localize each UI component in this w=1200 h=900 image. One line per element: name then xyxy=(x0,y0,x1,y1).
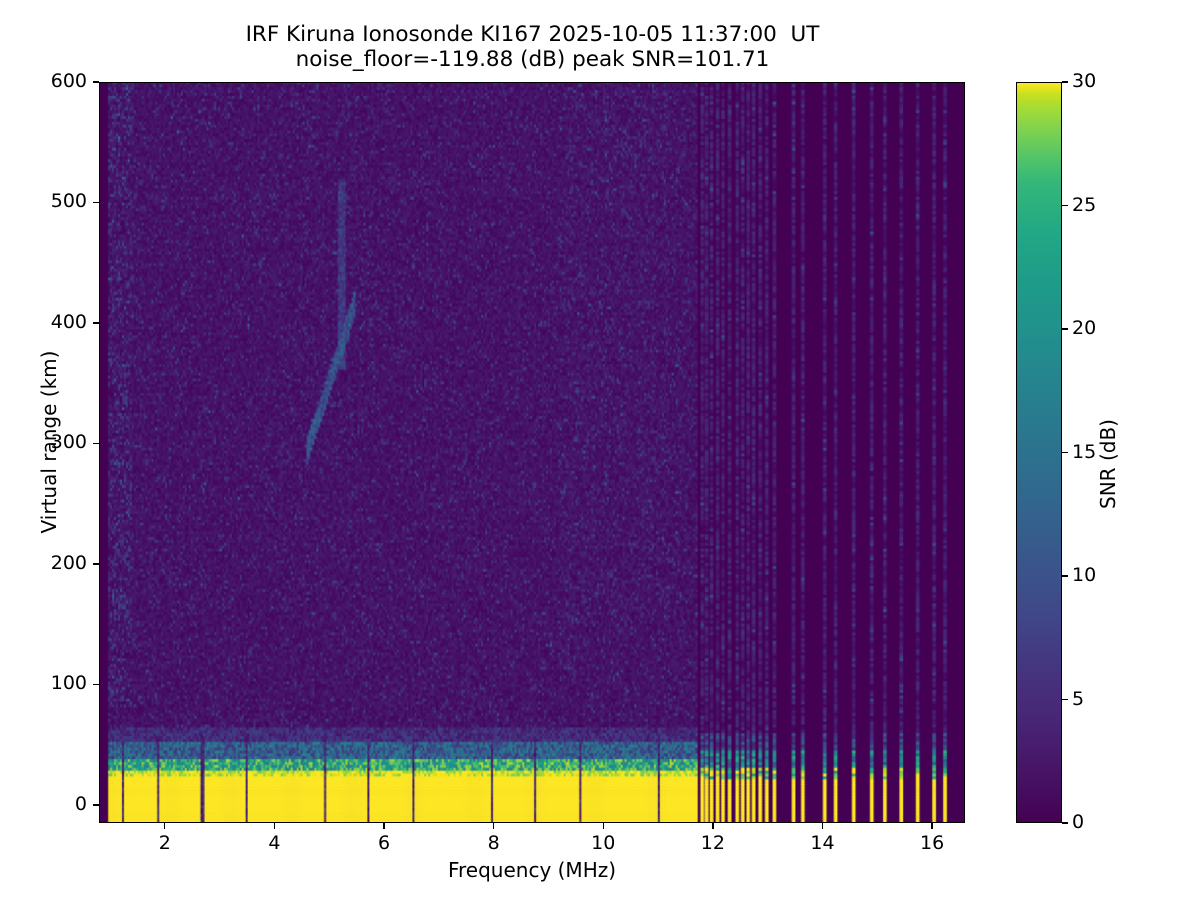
colorbar-ticklabel-15: 15 xyxy=(1072,441,1096,463)
colorbar-tick-25 xyxy=(1062,205,1068,206)
x-ticklabel-12: 12 xyxy=(683,832,743,854)
y-tick-0 xyxy=(93,804,99,805)
y-tick-500 xyxy=(93,202,99,203)
y-ticklabel-0: 0 xyxy=(75,793,87,815)
colorbar-tick-30 xyxy=(1062,81,1068,82)
x-tick-6 xyxy=(383,823,384,829)
x-ticklabel-14: 14 xyxy=(792,832,852,854)
y-tick-200 xyxy=(93,563,99,564)
y-ticklabel-500: 500 xyxy=(51,190,87,212)
y-ticklabel-100: 100 xyxy=(51,672,87,694)
x-ticklabel-4: 4 xyxy=(244,832,304,854)
y-ticklabel-600: 600 xyxy=(51,70,87,92)
x-tick-14 xyxy=(822,823,823,829)
figure-title: IRF Kiruna Ionosonde KI167 2025-10-05 11… xyxy=(0,22,1065,73)
y-axis-label: Virtual range (km) xyxy=(37,242,61,642)
y-tick-100 xyxy=(93,684,99,685)
colorbar-ticklabel-30: 30 xyxy=(1072,70,1096,92)
plot-axes xyxy=(99,82,965,823)
x-tick-8 xyxy=(493,823,494,829)
colorbar-tick-20 xyxy=(1062,328,1068,329)
x-ticklabel-6: 6 xyxy=(354,832,414,854)
x-tick-10 xyxy=(603,823,604,829)
colorbar-label: SNR (dB) xyxy=(1096,334,1120,594)
x-tick-16 xyxy=(931,823,932,829)
y-tick-400 xyxy=(93,322,99,323)
colorbar-ticklabel-25: 25 xyxy=(1072,194,1096,216)
x-axis-label: Frequency (MHz) xyxy=(99,858,965,882)
colorbar-tick-0 xyxy=(1062,822,1068,823)
ionogram-heatmap xyxy=(100,83,964,822)
colorbar-ticklabel-5: 5 xyxy=(1072,688,1084,710)
colorbar-tick-15 xyxy=(1062,452,1068,453)
x-ticklabel-10: 10 xyxy=(573,832,633,854)
x-ticklabel-2: 2 xyxy=(135,832,195,854)
x-tick-2 xyxy=(164,823,165,829)
colorbar-gradient xyxy=(1016,82,1062,823)
x-ticklabel-8: 8 xyxy=(464,832,524,854)
y-tick-600 xyxy=(93,81,99,82)
ionogram-figure: IRF Kiruna Ionosonde KI167 2025-10-05 11… xyxy=(0,0,1200,900)
colorbar-tick-10 xyxy=(1062,575,1068,576)
colorbar-ticklabel-20: 20 xyxy=(1072,317,1096,339)
y-tick-300 xyxy=(93,443,99,444)
x-tick-12 xyxy=(712,823,713,829)
x-tick-4 xyxy=(274,823,275,829)
colorbar-ticklabel-0: 0 xyxy=(1072,811,1084,833)
x-ticklabel-16: 16 xyxy=(902,832,962,854)
colorbar-tick-5 xyxy=(1062,699,1068,700)
title-line-1: IRF Kiruna Ionosonde KI167 2025-10-05 11… xyxy=(0,22,1065,47)
title-line-2: noise_floor=-119.88 (dB) peak SNR=101.71 xyxy=(0,47,1065,72)
colorbar-ticklabel-10: 10 xyxy=(1072,564,1096,586)
